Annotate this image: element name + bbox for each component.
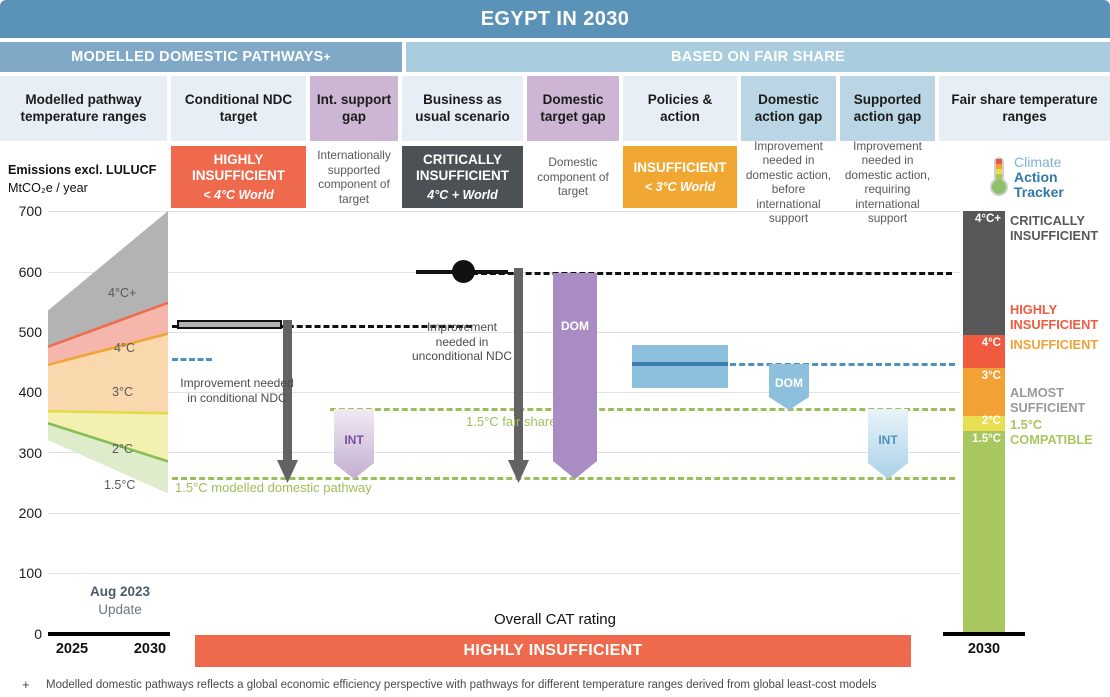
gap-tag-label: DOM xyxy=(561,319,589,333)
unconditional-ndc-improvement-arrow xyxy=(506,268,532,486)
x-tick-2030-left: 2030 xyxy=(122,641,178,657)
colhead-label: Domestic target gap xyxy=(531,92,615,125)
colhead-conditional-ndc-target: Conditional NDC target xyxy=(171,76,306,141)
fair-share-tag: 2°C xyxy=(982,415,1001,427)
band-modelled-domestic-pathways: MODELLED DOMESTIC PATHWAYS+ xyxy=(0,42,402,72)
y-tick-600: 600 xyxy=(0,264,42,280)
colhead-label: Int. support gap xyxy=(314,92,394,125)
footnote-marker: + xyxy=(22,677,30,692)
rating-world: < 4°C World xyxy=(203,188,273,202)
rating-conditional-ndc-target: HIGHLY INSUFFICIENT < 4°C World xyxy=(171,146,306,208)
conditional-ndc-improvement-label: Improvement needed in conditional NDC xyxy=(178,376,296,405)
fair-share-tag: 4°C xyxy=(982,337,1001,349)
modelled-domestic-pathway-label: 1.5°C modelled domestic pathway xyxy=(175,480,372,495)
fair-share-label: 1.5°C fair share xyxy=(466,414,556,429)
gridline-200 xyxy=(48,513,960,514)
colhead-supported-action-gap: Supported action gap xyxy=(840,76,935,141)
colhead-label: Conditional NDC target xyxy=(175,92,302,125)
x-tick-2025: 2025 xyxy=(44,641,100,657)
policies-dashed-line-left xyxy=(172,358,212,361)
rating-supported-action-gap: Improvement needed in domestic action, r… xyxy=(840,146,935,218)
band-label-4C: 4°C xyxy=(114,341,135,355)
fair-share-rating-almost-sufficient: ALMOST SUFFICIENT xyxy=(1010,386,1110,415)
colhead-modelled-pathway-temperature-ranges: Modelled pathway temperature ranges xyxy=(0,76,167,141)
update-date: Aug 2023 xyxy=(60,584,180,599)
rating-text: Improvement needed in domestic action, b… xyxy=(741,139,836,226)
y-axis-subtitle: MtCO₂e / year xyxy=(8,181,88,195)
gridline-300 xyxy=(48,452,960,453)
policies-and-action-mid-line xyxy=(632,362,728,366)
policies-dashed-line-right xyxy=(730,363,955,366)
y-tick-300: 300 xyxy=(0,445,42,461)
band-label-right: BASED ON FAIR SHARE xyxy=(671,49,845,65)
colhead-label: Fair share temperature ranges xyxy=(943,92,1106,125)
fair-share-tag: 3°C xyxy=(982,370,1001,382)
band-label-left: MODELLED DOMESTIC PATHWAYS xyxy=(71,49,323,65)
y-tick-0: 0 xyxy=(0,626,42,642)
x-axis-line-left xyxy=(48,632,170,636)
bau-dashed-line xyxy=(472,272,952,275)
rating-label: INSUFFICIENT xyxy=(634,160,727,176)
y-tick-100: 100 xyxy=(0,565,42,581)
logo-line-climate: Climate xyxy=(1014,155,1064,170)
band-based-on-fair-share: BASED ON FAIR SHARE xyxy=(406,42,1110,72)
overall-cat-rating-bar: HIGHLY INSUFFICIENT xyxy=(195,635,911,667)
band-label-1p5C: 1.5°C xyxy=(104,478,135,492)
colhead-business-as-usual-scenario: Business as usual scenario xyxy=(402,76,523,141)
rating-world: < 3°C World xyxy=(645,180,715,194)
rating-int-support-gap: Internationally supported component of t… xyxy=(310,146,398,208)
rating-text: Domestic component of target xyxy=(527,155,619,199)
colhead-domestic-target-gap: Domestic target gap xyxy=(527,76,619,141)
colhead-int-support-gap: Int. support gap xyxy=(310,76,398,141)
rating-label: HIGHLY INSUFFICIENT xyxy=(171,152,306,184)
colhead-domestic-action-gap: Domestic action gap xyxy=(741,76,836,141)
x-tick-2030-right: 2030 xyxy=(956,641,1012,657)
footnote-text: Modelled domestic pathways reflects a gl… xyxy=(46,679,1096,691)
gridline-700 xyxy=(48,211,960,212)
conditional-ndc-target-bar xyxy=(177,320,282,329)
fair-share-segment-4C: 4°C xyxy=(963,335,1005,368)
rating-domestic-target-gap: Domestic component of target xyxy=(527,146,619,208)
overall-cat-rating-caption: Overall CAT rating xyxy=(195,611,915,628)
business-as-usual-dot xyxy=(452,260,475,283)
unconditional-ndc-improvement-label: Improvement needed in unconditional NDC xyxy=(408,320,516,364)
colhead-label: Policies & action xyxy=(627,92,733,125)
policies-and-action-range xyxy=(632,345,728,388)
band-left-superscript: + xyxy=(324,50,331,64)
thermometer-icon xyxy=(986,155,1012,199)
page-title: EGYPT IN 2030 xyxy=(481,8,630,31)
fair-share-segment-4C-plus: 4°C+ xyxy=(963,211,1005,335)
domestic-target-gap-tag: DOM xyxy=(553,300,597,360)
rating-domestic-action-gap: Improvement needed in domestic action, b… xyxy=(741,146,836,218)
modelled-pathway-bands xyxy=(48,205,168,635)
colhead-label: Modelled pathway temperature ranges xyxy=(4,92,163,125)
fair-share-rating-highly-insufficient: HIGHLY INSUFFICIENT xyxy=(1010,303,1110,332)
rating-business-as-usual: CRITICALLY INSUFFICIENT 4°C + World xyxy=(402,146,523,208)
fair-share-segment-3C: 3°C xyxy=(963,368,1005,416)
gap-tag-label: INT xyxy=(878,433,897,447)
colhead-policies-and-action: Policies & action xyxy=(623,76,737,141)
colhead-label: Business as usual scenario xyxy=(406,92,519,125)
fair-share-segment-2C: 2°C xyxy=(963,416,1005,431)
band-label-2C: 2°C xyxy=(112,442,133,456)
y-tick-500: 500 xyxy=(0,324,42,340)
rating-text: Improvement needed in domestic action, r… xyxy=(840,139,935,226)
band-label-3C: 3°C xyxy=(112,385,133,399)
cat-logo-text: Climate Action Tracker xyxy=(1014,155,1064,200)
fair-share-rating-insufficient: INSUFFICIENT xyxy=(1010,338,1098,353)
colhead-label: Supported action gap xyxy=(844,92,931,125)
band-label-4C-plus: 4°C+ xyxy=(108,286,136,300)
page-title-bar: EGYPT IN 2030 xyxy=(0,0,1110,38)
int-support-gap-tag: INT xyxy=(334,409,374,479)
gridline-100 xyxy=(48,573,960,574)
fair-share-segment-1p5C: 1.5°C xyxy=(963,431,1005,633)
modelled-domestic-1p5-dashed-line xyxy=(330,408,955,411)
colhead-label: Domestic action gap xyxy=(745,92,832,125)
colhead-fair-share-temperature-ranges: Fair share temperature ranges xyxy=(939,76,1110,141)
fair-share-tag: 1.5°C xyxy=(972,433,1001,445)
fair-share-rating-1p5C-compatible: 1.5°C COMPATIBLE xyxy=(1010,418,1110,447)
update-label: Update xyxy=(60,602,180,617)
rating-label: CRITICALLY INSUFFICIENT xyxy=(402,152,523,184)
fair-share-rating-critically-insufficient: CRITICALLY INSUFFICIENT xyxy=(1010,214,1110,243)
domestic-action-gap-tag: DOM xyxy=(769,364,809,410)
fair-share-tag: 4°C+ xyxy=(975,213,1001,225)
gap-tag-label: DOM xyxy=(775,376,803,390)
logo-line-action: Action xyxy=(1014,170,1064,185)
supported-action-gap-tag: INT xyxy=(868,409,908,479)
gap-tag-label: INT xyxy=(344,433,363,447)
x-axis-line-right xyxy=(943,632,1025,636)
y-tick-700: 700 xyxy=(0,203,42,219)
rating-text: Internationally supported component of t… xyxy=(310,148,398,206)
y-tick-400: 400 xyxy=(0,384,42,400)
overall-cat-rating-label: HIGHLY INSUFFICIENT xyxy=(463,642,642,660)
rating-policies-and-action: INSUFFICIENT < 3°C World xyxy=(623,146,737,208)
rating-world: 4°C + World xyxy=(427,188,497,202)
y-axis-title: Emissions excl. LULUCF xyxy=(8,163,156,177)
logo-line-tracker: Tracker xyxy=(1014,185,1064,200)
y-tick-200: 200 xyxy=(0,505,42,521)
